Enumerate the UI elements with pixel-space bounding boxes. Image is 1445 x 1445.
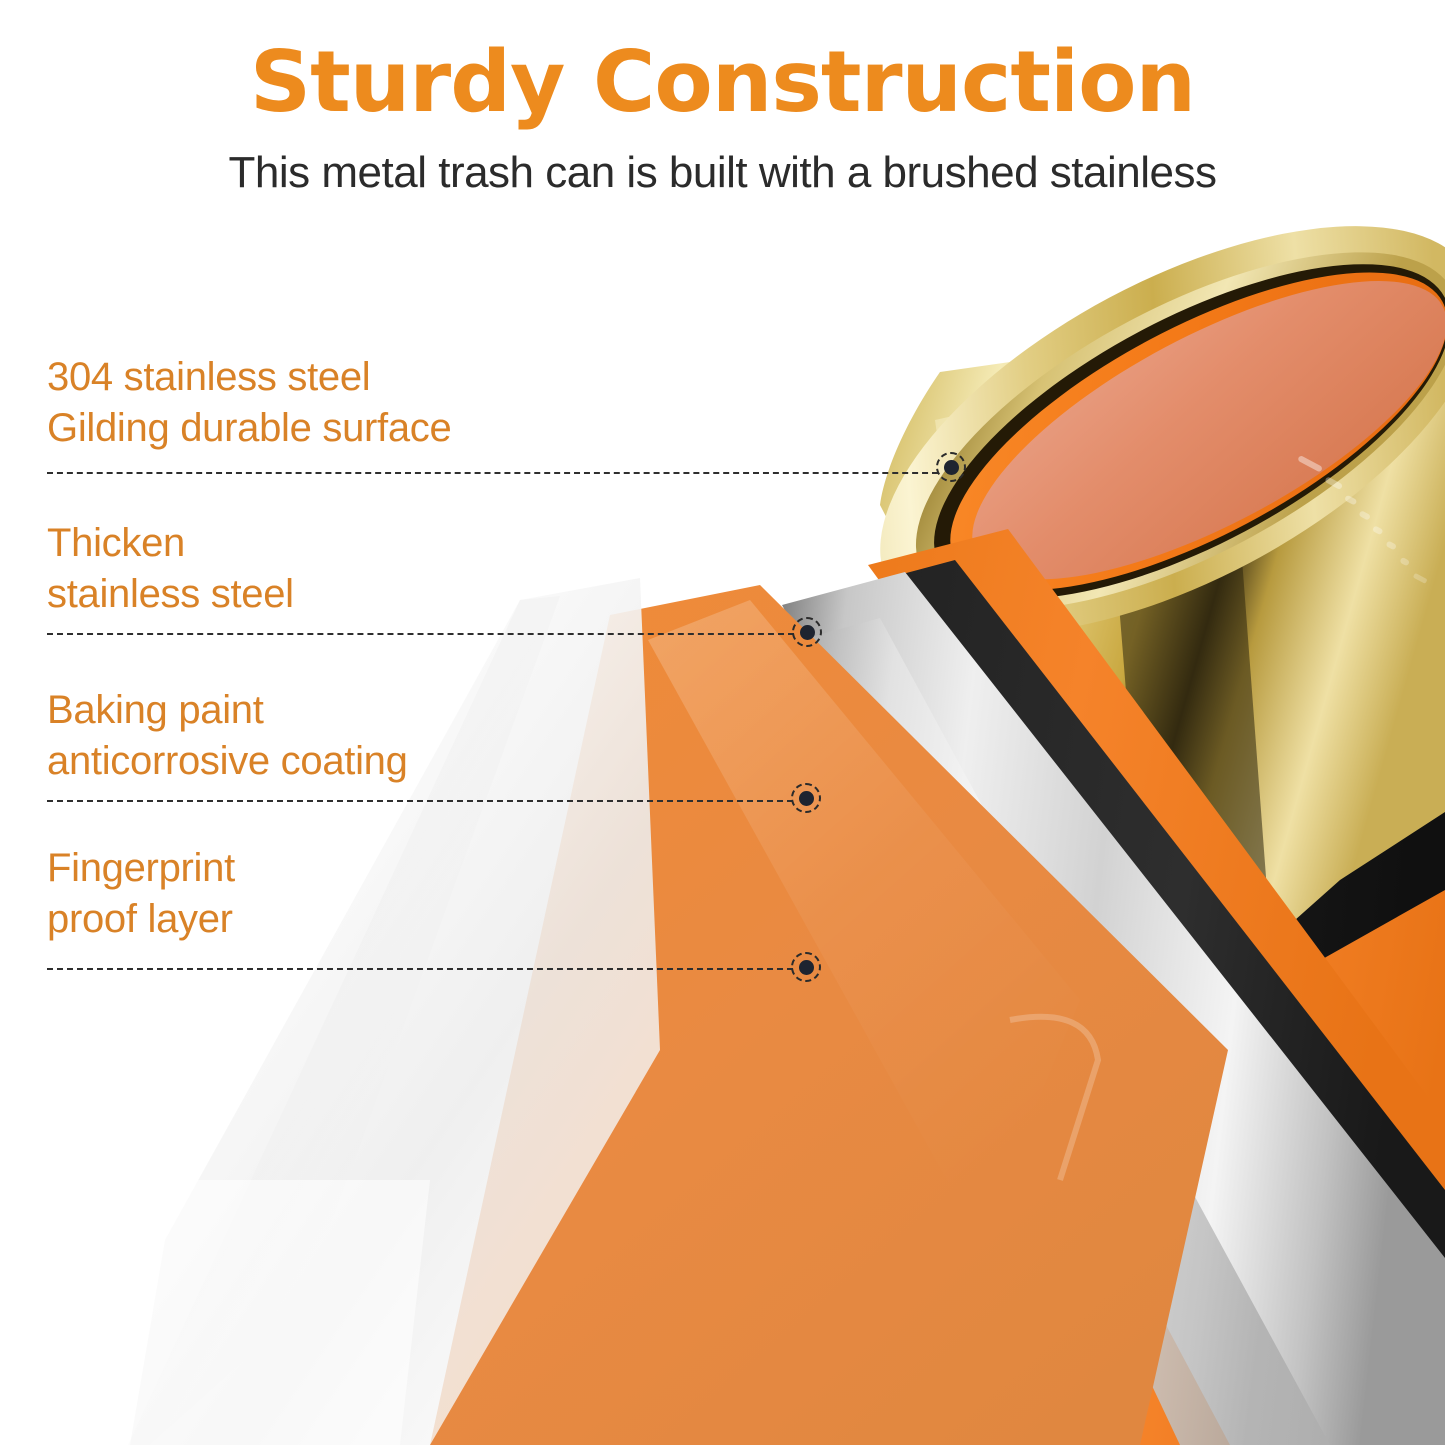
marker-dot-icon: [800, 625, 815, 640]
callout-leader-line-3: [47, 800, 793, 802]
callout-group: 304 stainless steel Gilding durable surf…: [0, 0, 1445, 1445]
callout-label-fingerprint-proof-layer: Fingerprint proof layer: [47, 843, 235, 945]
callout-label-304-stainless-steel: 304 stainless steel Gilding durable surf…: [47, 352, 451, 454]
callout-line: 304 stainless steel: [47, 352, 451, 403]
infographic-canvas: Sturdy Construction This metal trash can…: [0, 0, 1445, 1445]
callout-marker-3[interactable]: [791, 783, 821, 813]
callout-leader-line-2: [47, 633, 794, 635]
callout-line: proof layer: [47, 894, 235, 945]
marker-dot-icon: [944, 460, 959, 475]
callout-label-thicken-stainless-steel: Thicken stainless steel: [47, 518, 294, 620]
marker-dot-icon: [799, 791, 814, 806]
callout-line: Thicken: [47, 518, 294, 569]
callout-marker-1[interactable]: [936, 452, 966, 482]
callout-line: stainless steel: [47, 569, 294, 620]
callout-line: Gilding durable surface: [47, 403, 451, 454]
callout-line: anticorrosive coating: [47, 736, 408, 787]
callout-marker-4[interactable]: [791, 952, 821, 982]
callout-marker-2[interactable]: [792, 617, 822, 647]
callout-leader-line-4: [47, 968, 793, 970]
callout-label-baking-paint: Baking paint anticorrosive coating: [47, 685, 408, 787]
callout-line: Baking paint: [47, 685, 408, 736]
callout-leader-line-1: [47, 472, 938, 474]
marker-dot-icon: [799, 960, 814, 975]
callout-line: Fingerprint: [47, 843, 235, 894]
